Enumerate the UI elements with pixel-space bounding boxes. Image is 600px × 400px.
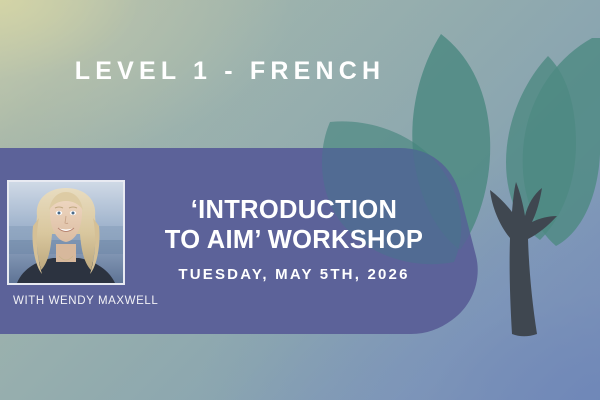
workshop-date: Tuesday, May 5th, 2026 <box>133 266 455 283</box>
workshop-title-line1: ‘Introduction <box>133 196 455 226</box>
workshop-title-line2: to AIM’ Workshop <box>133 226 455 256</box>
presenter-credit: With Wendy Maxwell <box>13 295 158 307</box>
page-title: Level 1 - French <box>0 56 460 86</box>
banner-text-block: ‘Introduction to AIM’ Workshop Tuesday, … <box>133 196 455 283</box>
avatar <box>7 180 125 285</box>
presenter-photo <box>9 182 123 283</box>
workshop-title: ‘Introduction to AIM’ Workshop <box>133 196 455 256</box>
promo-poster: Level 1 - French <box>0 0 600 400</box>
